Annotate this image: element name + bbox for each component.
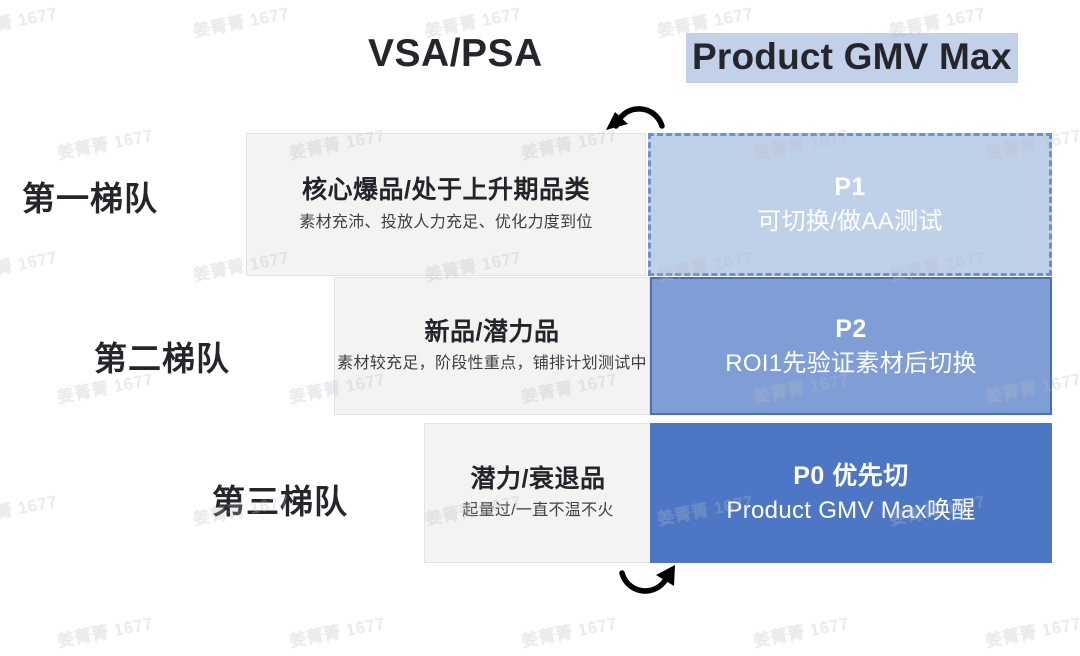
gmv-box-action: 可切换/做AA测试 bbox=[757, 207, 942, 237]
bottom-curved-arrow-icon bbox=[612, 565, 682, 613]
vsa-box-subtitle: 素材充沛、投放人力充足、优化力度到位 bbox=[299, 213, 592, 234]
vsa-box-title: 核心爆品/处于上升期品类 bbox=[302, 175, 590, 206]
vsa-box-tier-1: 核心爆品/处于上升期品类 素材充沛、投放人力充足、优化力度到位 bbox=[246, 133, 646, 276]
vsa-box-tier-2: 新品/潜力品 素材较充足，阶段性重点，铺排计划测试中 bbox=[334, 277, 650, 415]
gmv-box-tier-1-p1: P1 可切换/做AA测试 bbox=[648, 133, 1052, 276]
tier-label-second: 第二梯队 bbox=[94, 332, 230, 380]
vsa-box-tier-3: 潜力/衰退品 起量过/一直不温不火 bbox=[424, 423, 652, 563]
gmv-box-tier-3-p0: P0 优先切 Product GMV Max唤醒 bbox=[650, 423, 1052, 563]
top-curved-arrow-icon bbox=[604, 86, 674, 134]
vsa-box-subtitle: 素材较充足，阶段性重点，铺排计划测试中 bbox=[337, 354, 647, 375]
vsa-box-title: 潜力/衰退品 bbox=[471, 464, 606, 495]
gmv-box-tier-2-p2: P2 ROI1先验证素材后切换 bbox=[650, 277, 1052, 415]
tier-strategy-diagram: VSA/PSA Product GMV Max 第一梯队 第二梯队 第三梯队 核… bbox=[0, 0, 1080, 656]
vsa-box-subtitle: 起量过/一直不温不火 bbox=[462, 501, 613, 522]
gmv-box-priority: P1 bbox=[834, 172, 866, 202]
tier-label-first: 第一梯队 bbox=[22, 172, 158, 220]
gmv-box-priority: P0 优先切 bbox=[793, 461, 909, 491]
gmv-box-action: ROI1先验证素材后切换 bbox=[725, 349, 977, 379]
column-header-vsa-psa: VSA/PSA bbox=[368, 32, 543, 76]
vsa-box-title: 新品/潜力品 bbox=[425, 317, 560, 348]
tier-label-third: 第三梯队 bbox=[212, 475, 348, 523]
gmv-box-priority: P2 bbox=[835, 314, 867, 344]
gmv-box-action: Product GMV Max唤醒 bbox=[726, 496, 975, 526]
column-header-product-gmv-max: Product GMV Max bbox=[686, 33, 1018, 83]
